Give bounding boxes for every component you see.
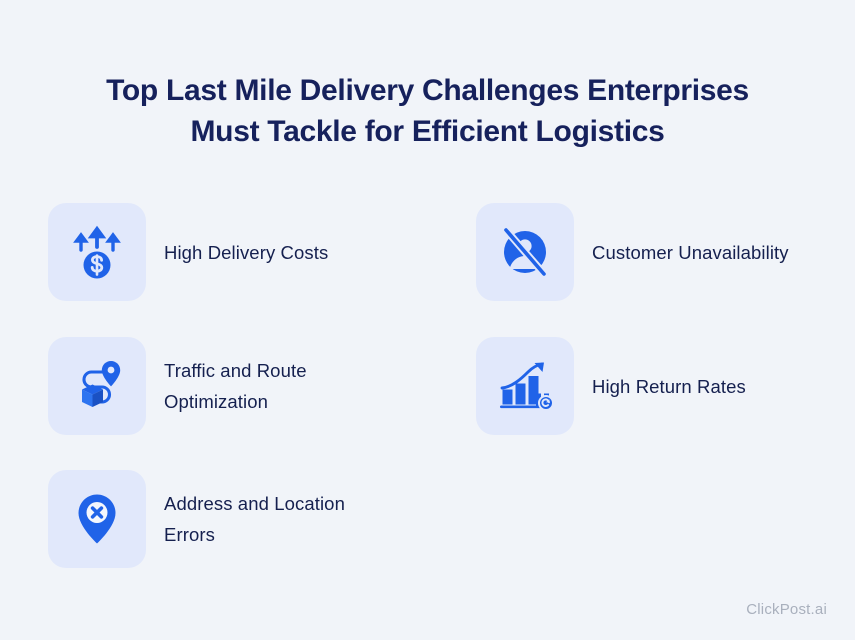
page-title: Top Last Mile Delivery Challenges Enterp… — [0, 70, 855, 152]
challenge-label-high-return-rates: High Return Rates — [592, 371, 746, 402]
infographic-canvas: Top Last Mile Delivery Challenges Enterp… — [0, 0, 855, 640]
user-unavailable-slash-icon — [496, 223, 554, 281]
challenge-label-high-delivery-costs: High Delivery Costs — [164, 237, 328, 268]
page-title-line-2: Must Tackle for Efficient Logistics — [0, 111, 855, 152]
page-title-line-1: Top Last Mile Delivery Challenges Enterp… — [0, 70, 855, 111]
challenge-label-address-and-location-errors: Address and Location Errors — [164, 488, 394, 550]
dollar-arrows-up-icon — [67, 222, 127, 282]
watermark-clickpost: ClickPost.ai — [746, 601, 827, 618]
challenge-item-customer-unavailability: Customer Unavailability — [476, 203, 789, 301]
challenge-label-customer-unavailability: Customer Unavailability — [592, 237, 789, 268]
route-pin-package-icon — [66, 355, 128, 417]
challenge-item-traffic-and-route-optimization: Traffic and Route Optimization — [48, 337, 394, 435]
challenge-label-traffic-and-route-optimization: Traffic and Route Optimization — [164, 355, 394, 417]
bar-chart-return-package-icon — [494, 355, 556, 417]
map-pin-error-icon — [69, 491, 125, 547]
icon-card-high-return-rates — [476, 337, 574, 435]
icon-card-traffic-and-route-optimization — [48, 337, 146, 435]
challenge-item-address-and-location-errors: Address and Location Errors — [48, 470, 394, 568]
challenge-item-high-delivery-costs: High Delivery Costs — [48, 203, 328, 301]
challenge-item-high-return-rates: High Return Rates — [476, 337, 746, 435]
icon-card-customer-unavailability — [476, 203, 574, 301]
icon-card-address-and-location-errors — [48, 470, 146, 568]
icon-card-high-delivery-costs — [48, 203, 146, 301]
